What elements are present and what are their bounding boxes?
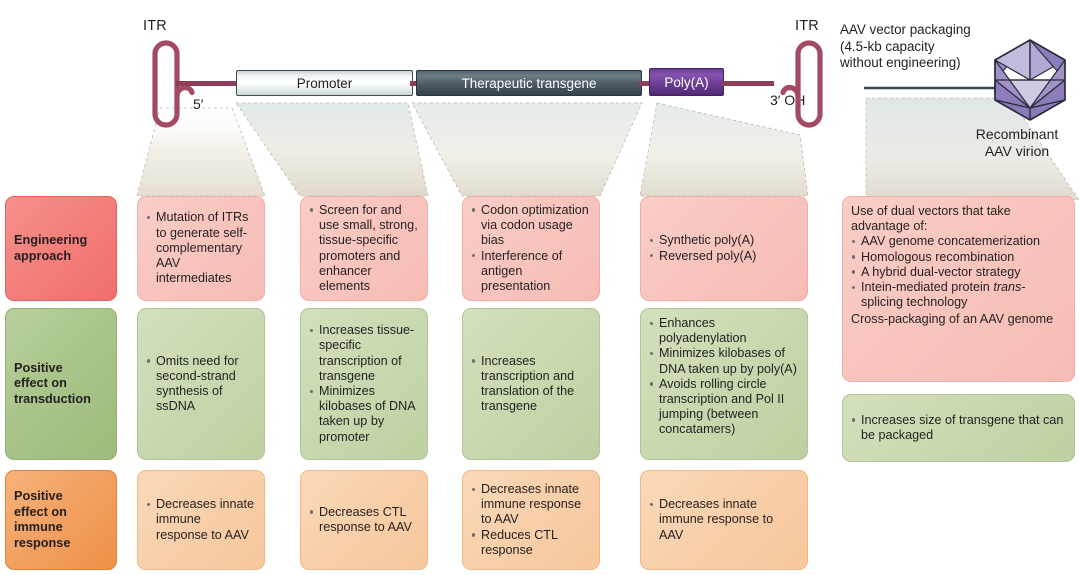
row-label-positive-effect-immune-response: Positive effect on immune response: [5, 470, 117, 570]
virion-caption: Recombinant AAV virion: [955, 126, 1079, 160]
cell-engineering-approach-polya: Synthetic poly(A)Reversed poly(A): [640, 196, 808, 301]
bullet-item: Decreases innate immune response to AAV: [146, 497, 255, 543]
bullet-item: Homologous recombination: [851, 250, 1065, 265]
cell-positive-effect-immune-response-itr: Decreases innate immune response to AAV: [137, 470, 265, 570]
aav-construct-diagram: ITR 5′ Promoter Therapeutic transgene Po…: [0, 0, 1079, 190]
itr-right-label: ITR: [795, 18, 819, 34]
bullet-item: Decreases innate immune response to AAV: [471, 482, 590, 528]
bullet-item: Reversed poly(A): [649, 249, 798, 264]
bullet-item: Increases size of transgene that can be …: [851, 413, 1065, 443]
five-prime-label: 5′: [193, 96, 203, 112]
bullet-item: Enhances polyadenylation: [649, 316, 798, 346]
segment-polya: Poly(A): [649, 68, 724, 96]
cell-bullet-list: Screen for and use small, strong, tissue…: [309, 203, 418, 294]
row-label-text: Positive effect on immune response: [14, 489, 70, 551]
row-label-positive-effect-transduction: Positive effect on transduction: [5, 308, 117, 460]
bullet-item: A hybrid dual-vector strategy: [851, 265, 1065, 280]
cell-engineering-approach-transgene: Codon optimization via codon usage biasI…: [462, 196, 600, 301]
itr-left-label: ITR: [143, 18, 167, 34]
bullet-item: Decreases CTL response to AAV: [309, 505, 418, 535]
cell-bullet-list: Decreases innate immune response to AAVR…: [471, 482, 590, 558]
bullet-item: Minimizes kilobases of DNA taken up by p…: [649, 346, 798, 376]
cell-bullet-list: Synthetic poly(A)Reversed poly(A): [649, 233, 798, 263]
cell-bullet-list: Increases size of transgene that can be …: [851, 413, 1065, 443]
cell-positive-effect-immune-response-polya: Decreases innate immune response to AAV: [640, 470, 808, 570]
cell-bullet-list: Decreases innate immune response to AAV: [649, 497, 798, 543]
cell-bullet-list: Codon optimization via codon usage biasI…: [471, 203, 590, 294]
cell-bullet-list: Increases tissue-specific transcription …: [309, 323, 418, 445]
figure-root: ITR 5′ Promoter Therapeutic transgene Po…: [0, 0, 1079, 575]
segment-polya-label: Poly(A): [664, 75, 708, 90]
cell-positive-effect-immune-response-promoter: Decreases CTL response to AAV: [300, 470, 428, 570]
cell-positive-effect-transduction-packaging: Increases size of transgene that can be …: [842, 394, 1075, 462]
cell-bullet-list: AAV genome concatemerizationHomologous r…: [851, 234, 1065, 310]
bullet-item: Reduces CTL response: [471, 528, 590, 558]
segment-promoter-label: Promoter: [297, 76, 353, 91]
cell-bullet-list: Enhances polyadenylationMinimizes kiloba…: [649, 316, 798, 438]
cell-lead-text: Use of dual vectors that take advantage …: [851, 204, 1065, 234]
bullet-item: Increases transcription and translation …: [471, 354, 590, 415]
segment-transgene-label: Therapeutic transgene: [461, 76, 596, 91]
bullet-item: Interference of antigen presentation: [471, 249, 590, 295]
italic-term: trans: [993, 280, 1021, 294]
bullet-item: Minimizes kilobases of DNA taken up by p…: [309, 384, 418, 445]
segment-therapeutic-transgene: Therapeutic transgene: [416, 70, 642, 96]
cell-bullet-list: Increases transcription and translation …: [471, 354, 590, 415]
itr-right-hairpin-icon: [760, 36, 840, 132]
strand-itr-to-promoter: [176, 81, 240, 86]
bullet-item: Increases tissue-specific transcription …: [309, 323, 418, 384]
segment-promoter: Promoter: [236, 70, 413, 96]
cell-bullet-list: Omits need for second-strand synthesis o…: [146, 354, 255, 415]
row-label-text: Engineering approach: [14, 233, 87, 264]
cell-engineering-approach-packaging: Use of dual vectors that take advantage …: [842, 196, 1075, 382]
bullet-item: AAV genome concatemerization: [851, 234, 1065, 249]
bullet-item: Avoids rolling circle transcription and …: [649, 377, 798, 438]
row-label-engineering-approach: Engineering approach: [5, 196, 117, 301]
cell-bullet-list: Decreases innate immune response to AAV: [146, 497, 255, 543]
cell-tail-text: Cross-packaging of an AAV genome: [851, 312, 1065, 327]
bullet-item: Mutation of ITRs to generate self-comple…: [146, 210, 255, 286]
bullet-item: Intein-mediated protein trans-splicing t…: [851, 280, 1065, 310]
bullet-item: Codon optimization via codon usage bias: [471, 203, 590, 249]
recombinant-aav-virion-icon: [985, 34, 1075, 126]
bullet-item: Synthetic poly(A): [649, 233, 798, 248]
cell-positive-effect-transduction-polya: Enhances polyadenylationMinimizes kiloba…: [640, 308, 808, 460]
cell-positive-effect-transduction-transgene: Increases transcription and translation …: [462, 308, 600, 460]
bullet-item: Omits need for second-strand synthesis o…: [146, 354, 255, 415]
cell-engineering-approach-promoter: Screen for and use small, strong, tissue…: [300, 196, 428, 301]
cell-engineering-approach-itr: Mutation of ITRs to generate self-comple…: [137, 196, 265, 301]
cell-positive-effect-immune-response-transgene: Decreases innate immune response to AAVR…: [462, 470, 600, 570]
row-label-text: Positive effect on transduction: [14, 361, 91, 408]
bullet-item: Decreases innate immune response to AAV: [649, 497, 798, 543]
cell-bullet-list: Mutation of ITRs to generate self-comple…: [146, 210, 255, 286]
bullet-item: Screen for and use small, strong, tissue…: [309, 203, 418, 294]
cell-positive-effect-transduction-promoter: Increases tissue-specific transcription …: [300, 308, 428, 460]
cell-positive-effect-transduction-itr: Omits need for second-strand synthesis o…: [137, 308, 265, 460]
cell-bullet-list: Decreases CTL response to AAV: [309, 505, 418, 535]
